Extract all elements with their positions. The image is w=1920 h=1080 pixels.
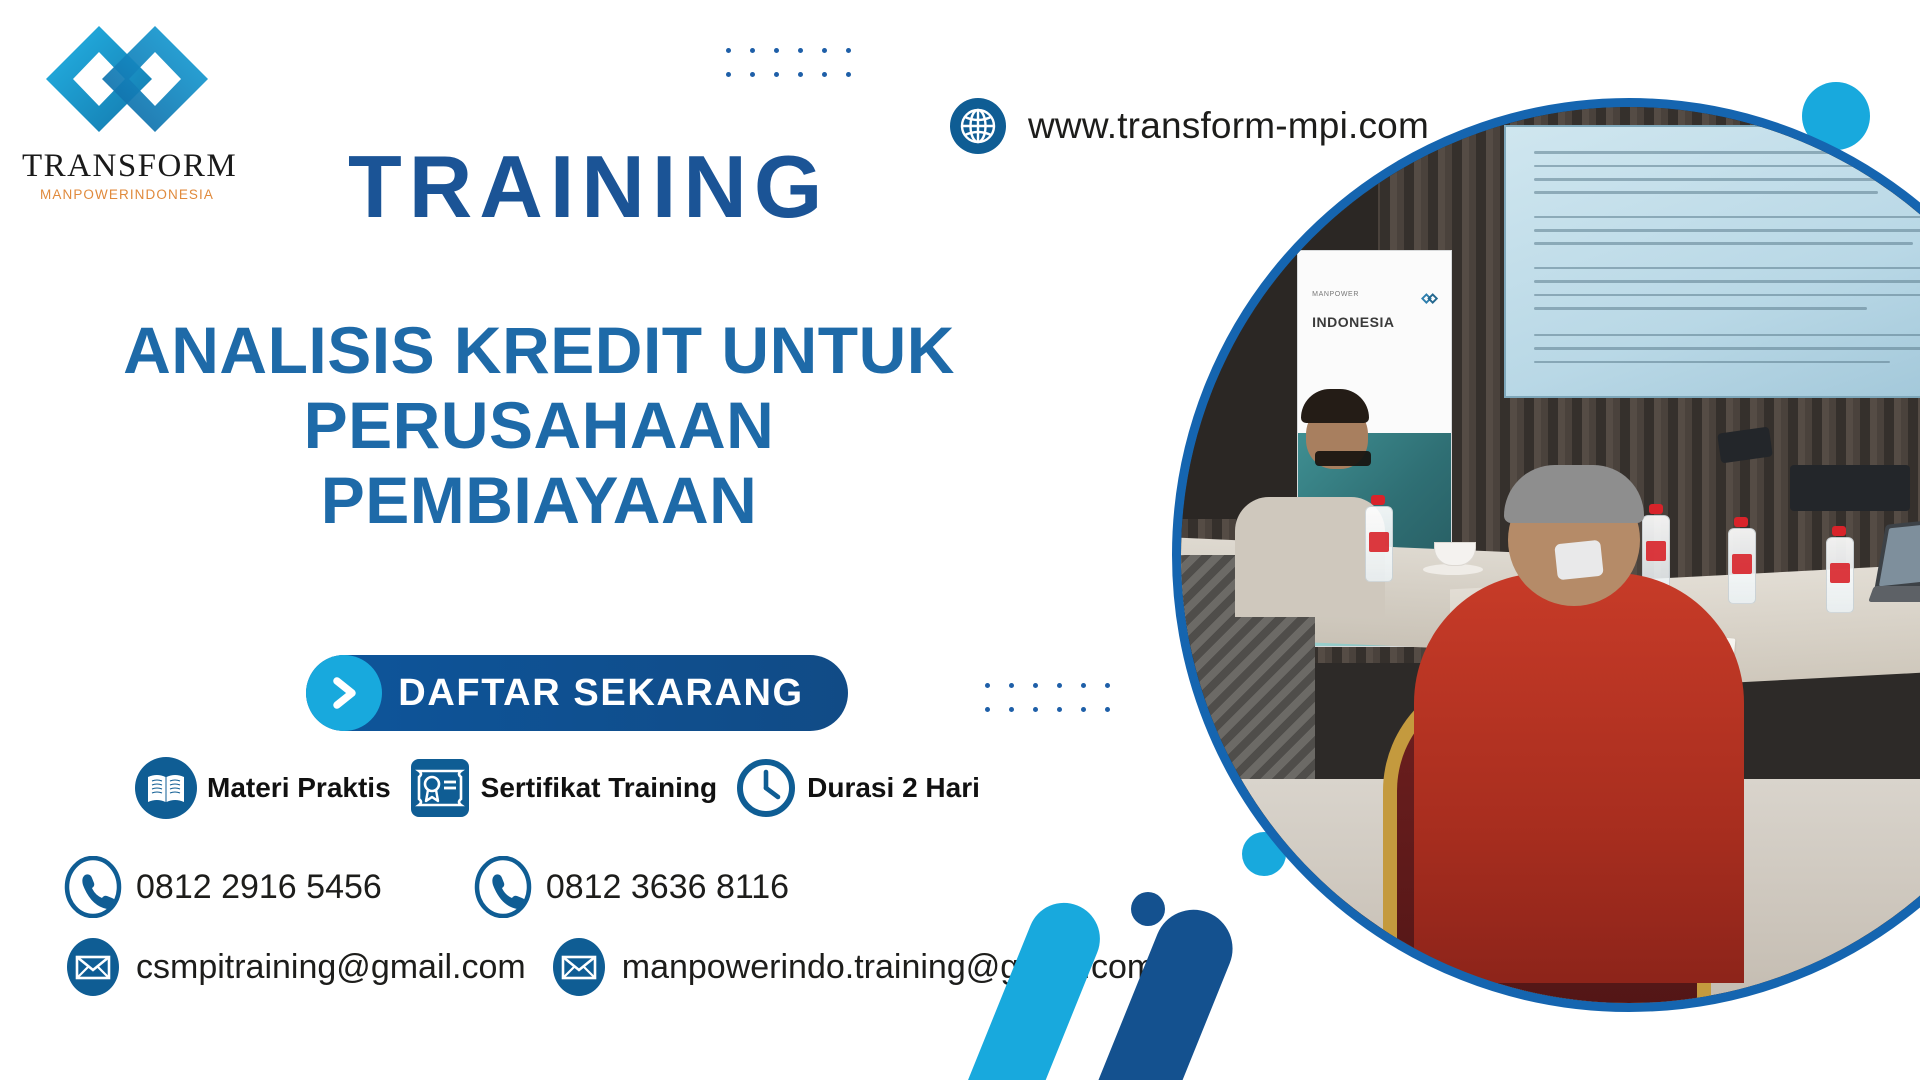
photo-banner-logo-icon <box>1421 291 1439 307</box>
phone-icon <box>62 856 124 918</box>
photo-banner-small-text: MANPOWER <box>1312 291 1359 298</box>
cta-label: DAFTAR SEKARANG <box>382 672 848 715</box>
phone-number: 0812 2916 5456 <box>136 868 382 907</box>
feature-label: Materi Praktis <box>207 772 391 804</box>
feature-label: Sertifikat Training <box>481 772 718 804</box>
photo-person-seated-body <box>1235 497 1385 617</box>
photo-bottle <box>1728 528 1756 604</box>
feature-badges: Materi Praktis Sertifikat Training Duras… <box>135 757 980 819</box>
page-eyebrow: TRAINING <box>348 143 829 231</box>
photo-person-red-mask <box>1554 539 1604 580</box>
feature-label: Durasi 2 Hari <box>807 772 980 804</box>
dot-grid-decoration-middle <box>985 683 1110 712</box>
photo-person-red-hair <box>1504 465 1644 523</box>
email-address: csmpitraining@gmail.com <box>136 948 526 987</box>
email-contact-1[interactable]: csmpitraining@gmail.com <box>62 936 526 998</box>
training-photo: MANPOWER INDONESIA <box>1172 98 1920 1012</box>
envelope-icon <box>548 936 610 998</box>
feature-materi-praktis: Materi Praktis <box>135 757 391 819</box>
clock-icon <box>735 757 797 819</box>
photo-bottle <box>1826 537 1854 613</box>
chevron-right-icon <box>324 673 364 713</box>
dot-decoration-navy-small <box>1131 892 1165 926</box>
photo-bottle-cap <box>1371 495 1385 505</box>
book-icon <box>135 757 197 819</box>
photo-person-red-body <box>1414 573 1744 983</box>
register-now-button[interactable]: DAFTAR SEKARANG <box>306 655 848 731</box>
feature-sertifikat-training: Sertifikat Training <box>409 757 718 819</box>
photo-bottle-cap <box>1649 504 1663 514</box>
brand-logo: TRANSFORM MANPOWERINDONESIA <box>22 18 232 202</box>
email-contact-row: csmpitraining@gmail.com manpowerindo.tra… <box>62 936 1155 998</box>
photo-banner-text: INDONESIA <box>1312 314 1394 330</box>
phone-number: 0812 3636 8116 <box>546 868 789 907</box>
interlocking-diamonds-logo-icon <box>42 18 212 148</box>
brand-name: TRANSFORM <box>22 150 232 183</box>
photo-bottle-cap <box>1734 517 1748 527</box>
brand-tagline: MANPOWERINDONESIA <box>22 188 232 202</box>
feature-durasi: Durasi 2 Hari <box>735 757 980 819</box>
globe-icon <box>950 98 1006 154</box>
page-title: ANALISIS KREDIT UNTUK PERUSAHAAN PEMBIAY… <box>100 313 978 539</box>
phone-contact-row: 0812 2916 5456 0812 3636 8116 <box>62 856 789 918</box>
photo-bottle-cap <box>1832 526 1846 536</box>
envelope-icon <box>62 936 124 998</box>
phone-icon <box>472 856 534 918</box>
photo-person-seated-glasses <box>1315 451 1371 466</box>
photo-projector-screen <box>1504 125 1920 398</box>
training-photo-scene: MANPOWER INDONESIA <box>1181 107 1920 1003</box>
banner-canvas: TRANSFORM MANPOWERINDONESIA www.transfor… <box>0 0 1920 1080</box>
photo-bottle <box>1365 506 1393 582</box>
cta-arrow-badge <box>306 655 382 731</box>
phone-contact-2[interactable]: 0812 3636 8116 <box>472 856 789 918</box>
phone-contact-1[interactable]: 0812 2916 5456 <box>62 856 382 918</box>
dot-grid-decoration-top <box>726 48 851 77</box>
photo-laptop-base <box>1868 586 1920 602</box>
certificate-icon <box>409 757 471 819</box>
photo-projector <box>1790 465 1910 511</box>
